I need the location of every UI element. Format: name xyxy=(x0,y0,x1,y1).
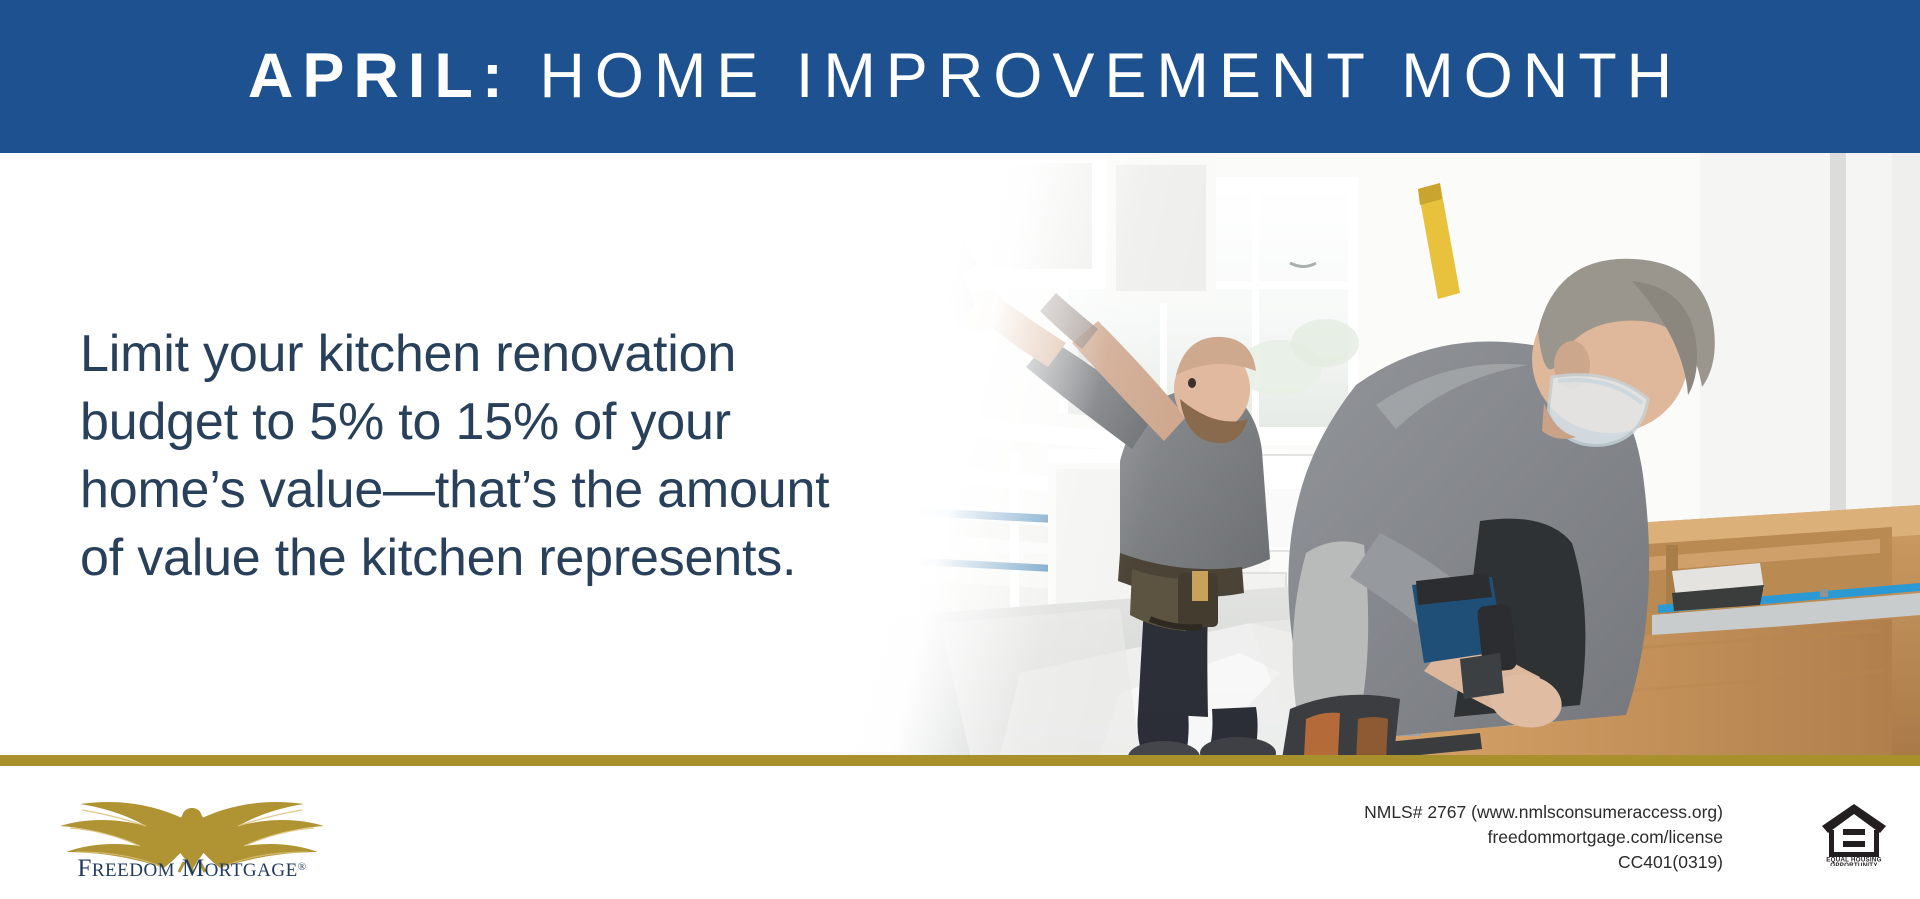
legal-line-nmls: NMLS# 2767 (www.nmlsconsumeraccess.org) xyxy=(1364,800,1723,825)
headline-text: Limit your kitchen renovation budget to … xyxy=(80,320,910,592)
header-banner: APRIL: HOME IMPROVEMENT MONTH xyxy=(0,0,1920,153)
equal-housing-opportunity-icon: EQUAL HOUSING OPPORTUNITY xyxy=(1820,800,1888,866)
gold-divider xyxy=(0,755,1920,766)
legal-line-code: CC401(0319) xyxy=(1364,850,1723,875)
page-title: APRIL: HOME IMPROVEMENT MONTH xyxy=(238,45,1682,108)
svg-text:FREEDOM MORTGAGE®: FREEDOM MORTGAGE® xyxy=(77,855,306,880)
legal-line-license: freedommortgage.com/license xyxy=(1364,825,1723,850)
legal-disclosure: NMLS# 2767 (www.nmlsconsumeraccess.org) … xyxy=(1364,800,1723,875)
eagle-icon: FREEDOM MORTGAGE® xyxy=(42,788,342,880)
freedom-mortgage-logo: FREEDOM MORTGAGE® xyxy=(42,788,342,880)
header-title-rest: HOME IMPROVEMENT MONTH xyxy=(512,41,1682,111)
kitchen-renovation-photo xyxy=(820,153,1920,755)
headline-block: Limit your kitchen renovation budget to … xyxy=(80,320,910,592)
photo-illustration xyxy=(820,153,1920,755)
header-month-label: APRIL: xyxy=(248,41,512,111)
marketing-poster: APRIL: HOME IMPROVEMENT MONTH xyxy=(0,0,1920,899)
ehl-line2: OPPORTUNITY xyxy=(1830,862,1878,866)
